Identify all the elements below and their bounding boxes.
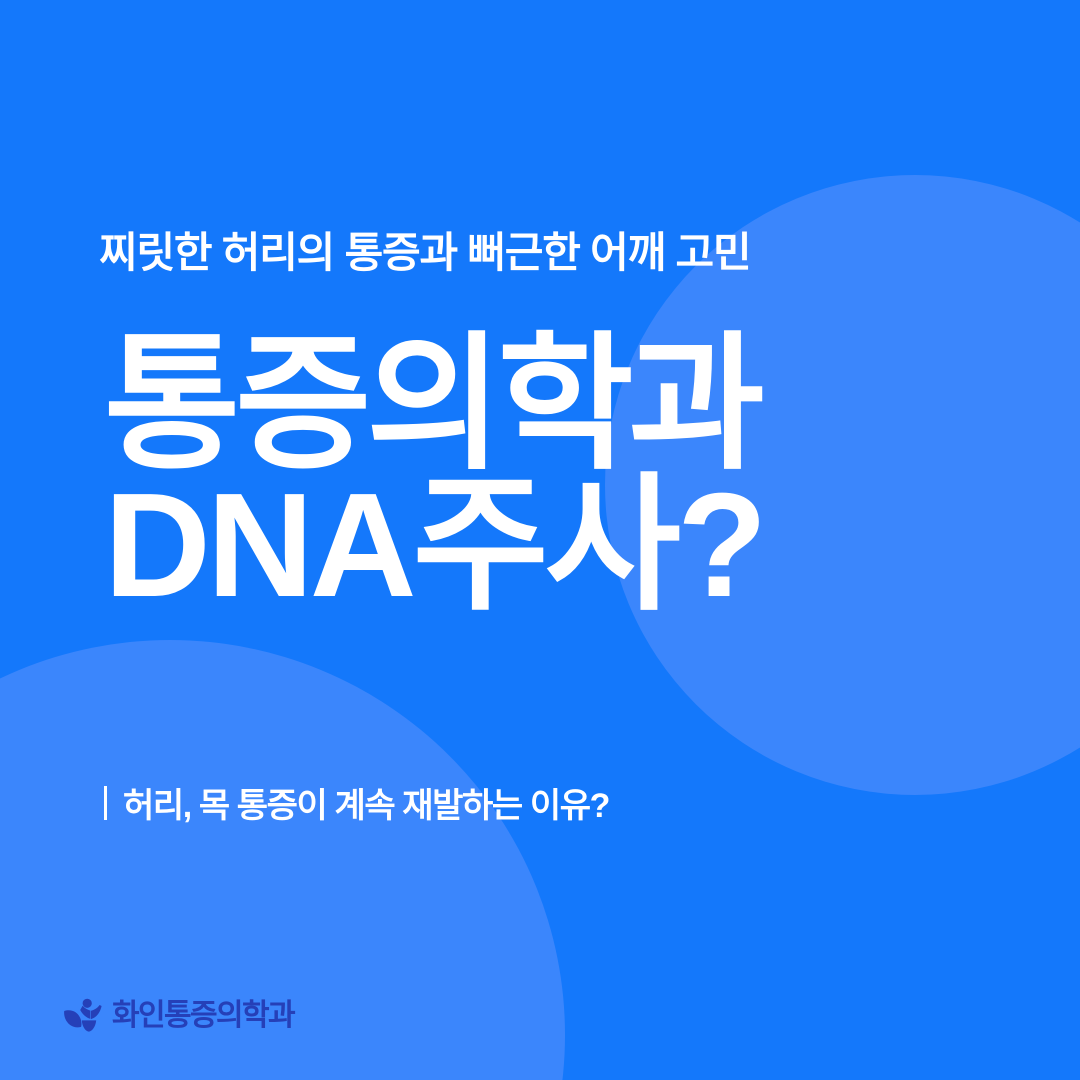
poster-caption: 허리, 목 통증이 계속 재발하는 이유? [104,778,609,827]
poster-caption-text: 허리, 목 통증이 계속 재발하는 이유? [123,778,609,827]
poster-title: 통증의학과 DNA주사? [104,335,763,616]
poster-subtitle: 찌릿한 허리의 통증과 뻐근한 어깨 고민 [99,228,750,278]
leaf-person-icon [62,998,104,1034]
poster-card: 찌릿한 허리의 통증과 뻐근한 어깨 고민 통증의학과 DNA주사? 허리, 목… [0,0,1080,1080]
poster-title-line-2: DNA주사? [104,476,763,617]
poster-content: 찌릿한 허리의 통증과 뻐근한 어깨 고민 통증의학과 DNA주사? 허리, 목… [0,0,1080,1080]
poster-title-line-1: 통증의학과 [104,335,763,476]
brand-logo: 화인통증의학과 [62,998,294,1034]
caption-bar-icon [104,786,107,820]
brand-name: 화인통증의학과 [112,1001,294,1031]
